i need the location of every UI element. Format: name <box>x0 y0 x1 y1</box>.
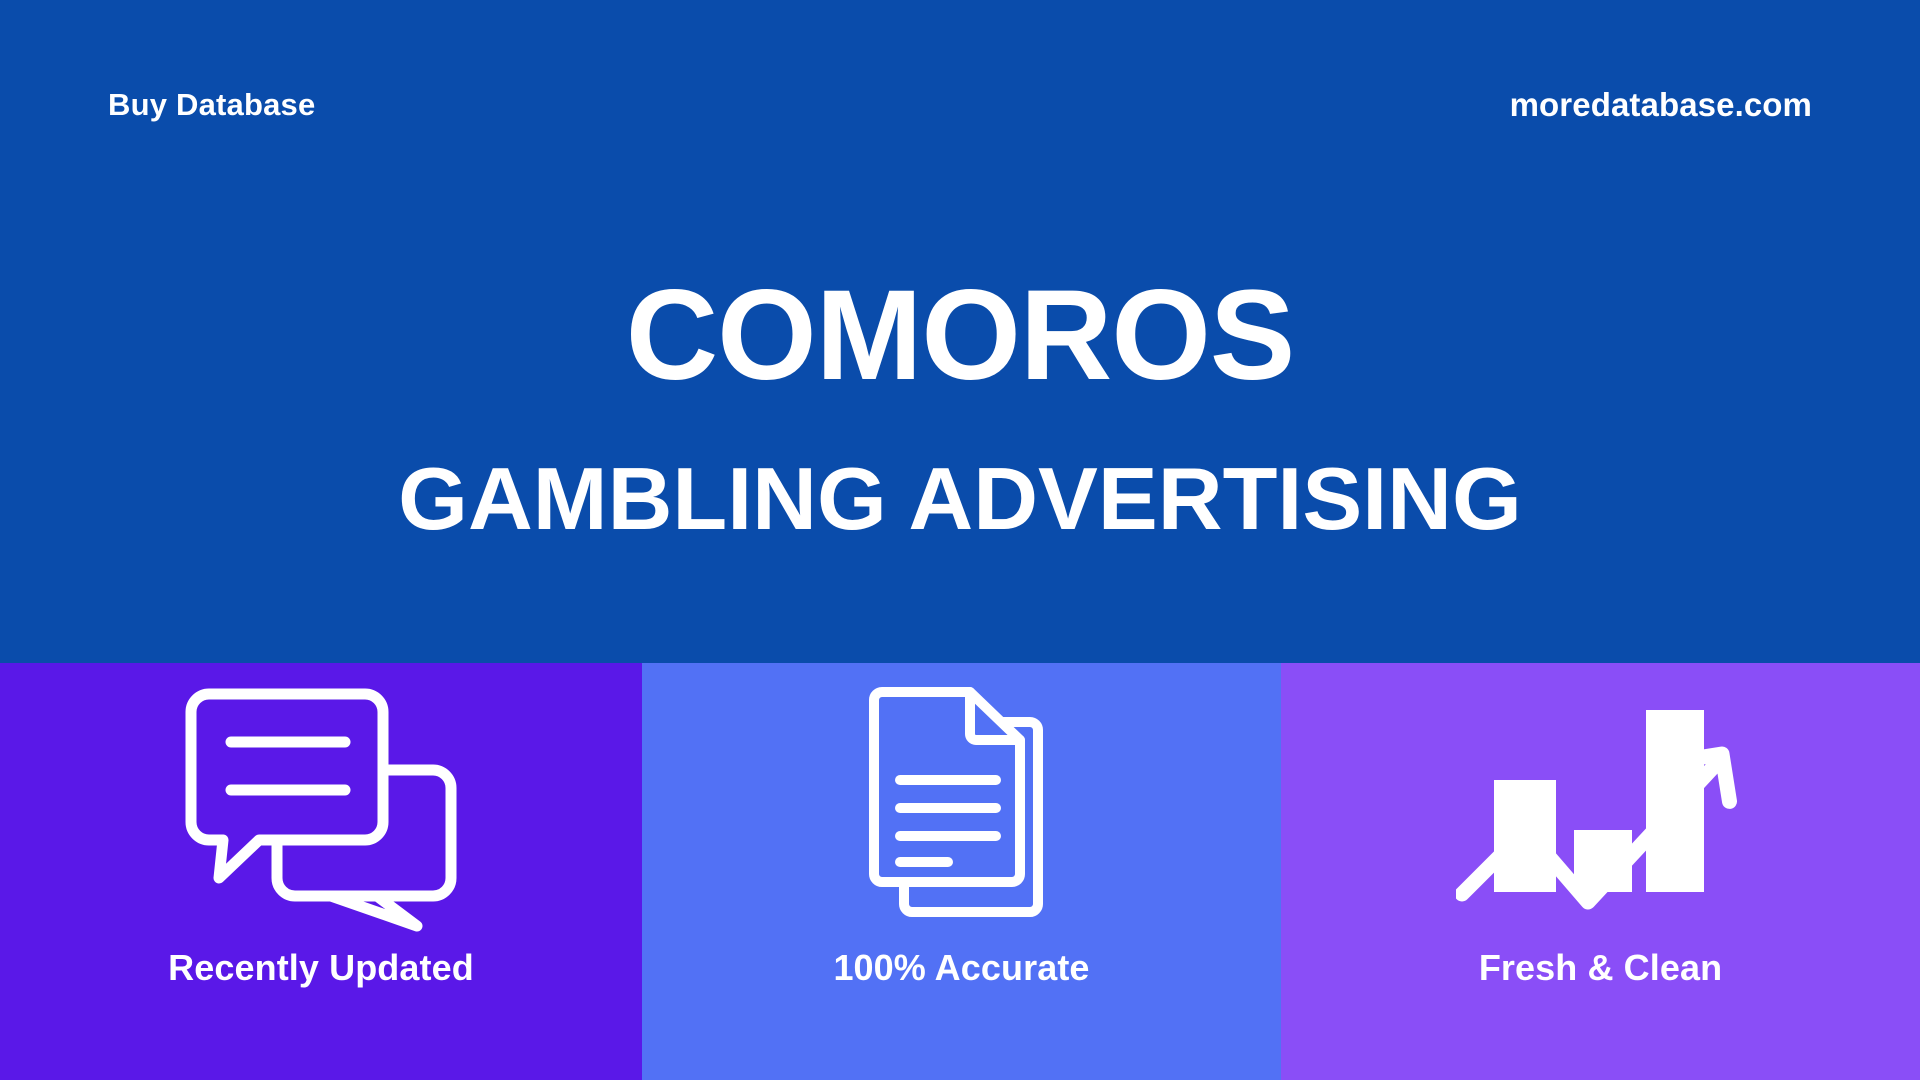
website-url: moredatabase.com <box>1510 86 1812 124</box>
feature-panel-fresh-clean: Fresh & Clean <box>1281 663 1920 1080</box>
feature-panels: Recently Updated 100% Acc <box>0 663 1920 1080</box>
feature-panel-recently-updated: Recently Updated <box>0 663 642 1080</box>
title-block: COMOROS GAMBLING ADVERTISING <box>0 272 1920 543</box>
banner-header: Buy Database moredatabase.com COMOROS GA… <box>0 0 1920 663</box>
chat-bubbles-icon <box>181 671 461 943</box>
page-title: COMOROS <box>0 272 1920 400</box>
page-subtitle: GAMBLING ADVERTISING <box>0 455 1920 543</box>
feature-panel-accurate: 100% Accurate <box>642 663 1281 1080</box>
promo-banner: Buy Database moredatabase.com COMOROS GA… <box>0 0 1920 1080</box>
brand-name: Buy Database <box>108 87 315 123</box>
brand-row: Buy Database moredatabase.com <box>0 0 1920 210</box>
feature-label-recently-updated: Recently Updated <box>168 947 474 989</box>
growth-bar-chart-icon <box>1456 671 1746 943</box>
document-pages-icon <box>862 671 1062 943</box>
feature-label-accurate: 100% Accurate <box>833 947 1089 989</box>
feature-label-fresh-clean: Fresh & Clean <box>1479 947 1722 989</box>
